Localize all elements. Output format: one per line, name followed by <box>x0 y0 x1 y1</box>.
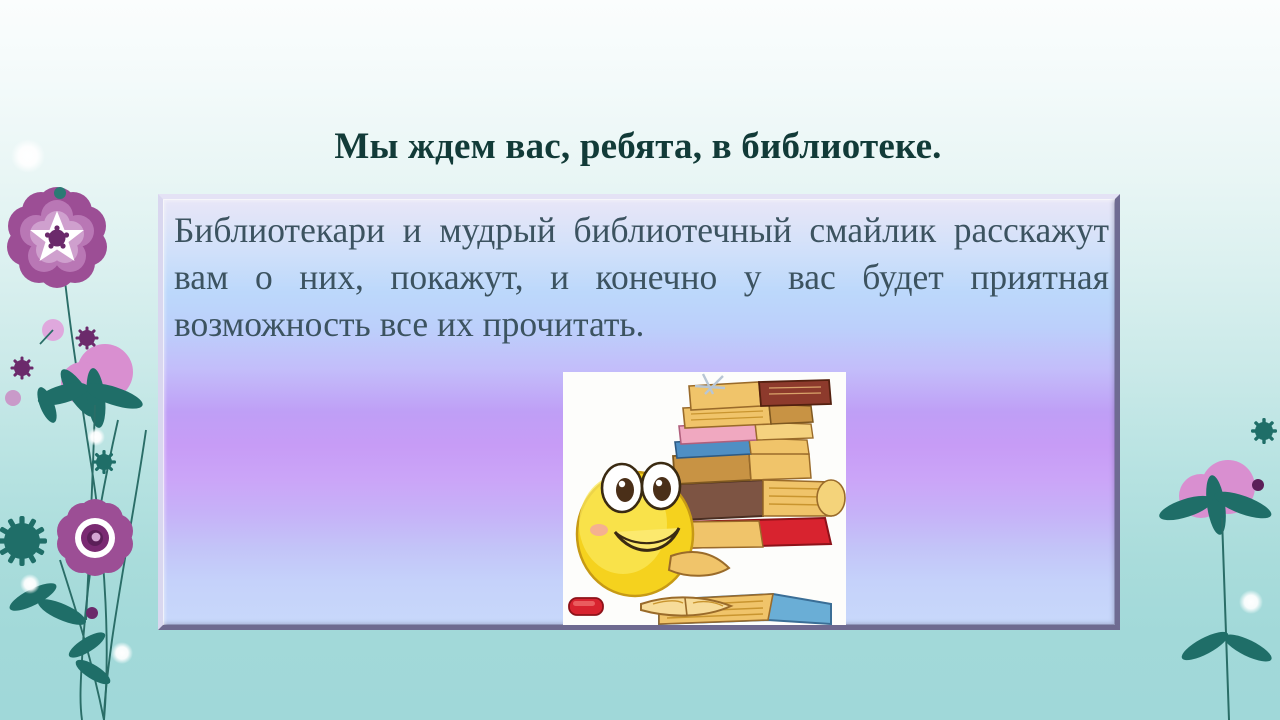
left-bud <box>40 319 64 344</box>
white-starburst-topleft <box>11 139 45 173</box>
slide-canvas: Мы ждем вас, ребята, в библиотеке. Библи… <box>0 0 1280 720</box>
eraser-icon <box>569 598 603 615</box>
teal-starburst-right <box>1251 418 1277 444</box>
book-red <box>681 518 831 548</box>
smiley-with-books-image <box>563 372 846 630</box>
left-tulip-flower <box>36 344 146 620</box>
left-stems <box>57 190 146 720</box>
white-starburst-right <box>1239 590 1263 614</box>
white-starburst-lower <box>87 428 105 446</box>
teal-starburst-left <box>0 516 47 566</box>
teal-starburst-small <box>92 450 116 474</box>
book-darkred-top <box>689 380 831 410</box>
book-brown <box>679 480 845 520</box>
left-leaves <box>6 385 113 689</box>
right-tulip-flower <box>1157 460 1275 720</box>
white-starburst-midleft <box>20 574 40 594</box>
left-ring-flower <box>57 499 133 576</box>
purple-dot-right <box>1252 479 1264 491</box>
white-starburst-lowleft <box>111 642 133 664</box>
body-paragraph: Библиотекари и мудрый библиотечный смайл… <box>174 207 1109 348</box>
purple-dot-starbursts <box>5 187 99 619</box>
left-large-flower <box>7 187 107 288</box>
page-title: Мы ждем вас, ребята, в библиотеке. <box>158 124 1118 170</box>
content-text-box: Библиотекари и мудрый библиотечный смайл… <box>158 194 1120 630</box>
